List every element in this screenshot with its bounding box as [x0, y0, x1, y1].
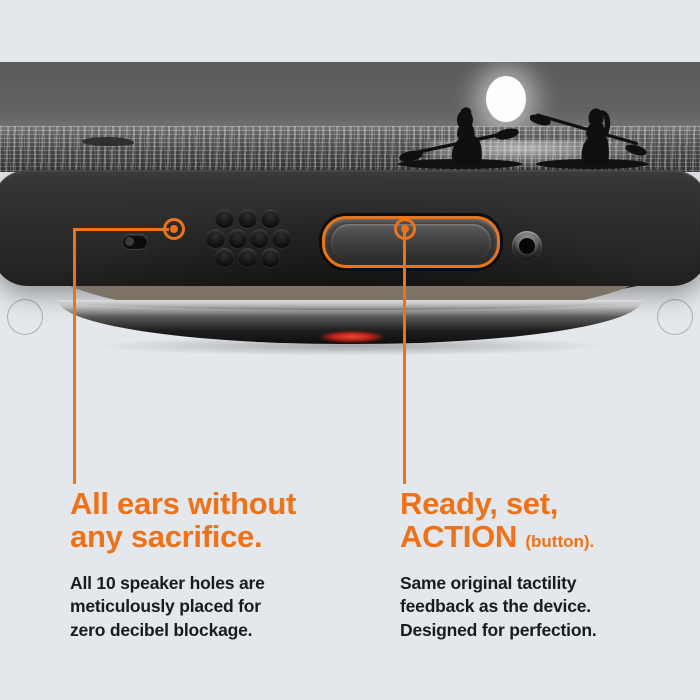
callout-dot-speaker[interactable]	[163, 218, 185, 240]
depth-sensor-port	[512, 231, 542, 261]
action-heading-line1: Ready, set,	[400, 486, 558, 521]
speaker-hole	[250, 229, 269, 248]
action-heading-line2: ACTION	[400, 519, 517, 554]
speaker-hole	[261, 209, 280, 228]
speaker-grille	[206, 209, 286, 267]
speaker-heading-line1: All ears without	[70, 486, 296, 521]
action-heading: Ready, set, ACTION (button).	[400, 487, 690, 554]
callout-dot-action-button[interactable]	[394, 218, 416, 240]
callout-text-speaker: All ears without any sacrifice. All 10 s…	[70, 487, 380, 642]
action-body-line1: Same original tactility	[400, 573, 576, 593]
speaker-heading-line2: any sacrifice.	[70, 519, 262, 554]
action-body: Same original tactility feedback as the …	[400, 572, 690, 642]
speaker-heading: All ears without any sacrifice.	[70, 487, 380, 554]
action-body-line2: feedback as the device.	[400, 596, 591, 616]
speaker-body-line1: All 10 speaker holes are	[70, 573, 265, 593]
callout-leader-speaker-horizontal	[73, 228, 169, 231]
speaker-hole	[215, 209, 234, 228]
callout-leader-speaker-vertical	[73, 228, 76, 484]
speaker-hole	[215, 248, 234, 267]
marketing-slide: All ears without any sacrifice. All 10 s…	[0, 0, 700, 700]
strap-hole-right	[658, 300, 692, 334]
speaker-hole	[238, 248, 257, 267]
microphone-port	[122, 234, 148, 249]
callout-leader-action-vertical	[403, 228, 406, 484]
speaker-hole	[272, 229, 291, 248]
case-drop-shadow	[90, 336, 610, 356]
speaker-hole	[238, 209, 257, 228]
smartwatch	[0, 0, 700, 400]
callout-text-action-button: Ready, set, ACTION (button). Same origin…	[400, 487, 690, 642]
strap-hole-left	[8, 300, 42, 334]
speaker-body-line2: meticulously placed for	[70, 596, 261, 616]
action-heading-suffix: (button).	[525, 532, 594, 551]
speaker-body-line3: zero decibel blockage.	[70, 620, 252, 640]
speaker-hole	[228, 229, 247, 248]
speaker-hole	[206, 229, 225, 248]
action-body-line3: Designed for perfection.	[400, 620, 596, 640]
speaker-hole	[261, 248, 280, 267]
speaker-body: All 10 speaker holes are meticulously pl…	[70, 572, 380, 642]
